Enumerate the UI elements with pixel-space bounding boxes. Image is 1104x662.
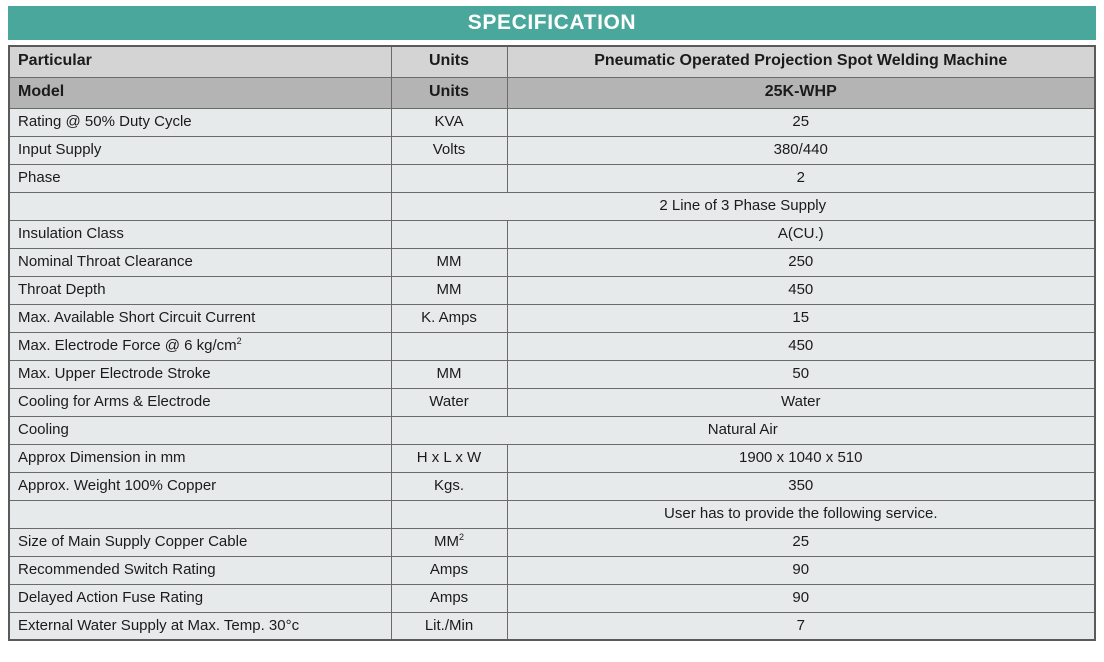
table-row: External Water Supply at Max. Temp. 30°c…: [9, 612, 1095, 640]
cell-units: KVA: [391, 108, 507, 136]
cell-value: 90: [507, 556, 1095, 584]
cell-units: MM: [391, 276, 507, 304]
table-row: Approx Dimension in mmH x L x W1900 x 10…: [9, 444, 1095, 472]
table-row: Phase2: [9, 164, 1095, 192]
cell-units: H x L x W: [391, 444, 507, 472]
cell-units: [391, 164, 507, 192]
cell-value: 380/440: [507, 136, 1095, 164]
model-label: Model: [9, 77, 391, 108]
specification-table: Particular Units Pneumatic Operated Proj…: [8, 45, 1096, 641]
table-row: 2 Line of 3 Phase Supply: [9, 192, 1095, 220]
cell-value: 250: [507, 248, 1095, 276]
cell-value: 25: [507, 528, 1095, 556]
cell-units: Kgs.: [391, 472, 507, 500]
table-row: Approx. Weight 100% CopperKgs.350: [9, 472, 1095, 500]
cell-particular: Nominal Throat Clearance: [9, 248, 391, 276]
cell-value-merged: 2 Line of 3 Phase Supply: [391, 192, 1095, 220]
table-header-row: Particular Units Pneumatic Operated Proj…: [9, 46, 1095, 77]
cell-particular: Input Supply: [9, 136, 391, 164]
table-row: Max. Electrode Force @ 6 kg/cm2450: [9, 332, 1095, 360]
cell-units: Amps: [391, 584, 507, 612]
column-header-particular: Particular: [9, 46, 391, 77]
cell-units: K. Amps: [391, 304, 507, 332]
table-row: Cooling for Arms & ElectrodeWaterWater: [9, 388, 1095, 416]
cell-units: MM: [391, 360, 507, 388]
cell-units: Amps: [391, 556, 507, 584]
cell-particular: Insulation Class: [9, 220, 391, 248]
superscript: 2: [459, 532, 464, 542]
table-row: Recommended Switch RatingAmps90: [9, 556, 1095, 584]
model-units: Units: [391, 77, 507, 108]
cell-units: [391, 500, 507, 528]
superscript: 2: [237, 336, 242, 346]
cell-units: MM2: [391, 528, 507, 556]
table-row: Size of Main Supply Copper CableMM225: [9, 528, 1095, 556]
cell-value: 450: [507, 276, 1095, 304]
column-header-units: Units: [391, 46, 507, 77]
cell-particular: External Water Supply at Max. Temp. 30°c: [9, 612, 391, 640]
cell-value: 50: [507, 360, 1095, 388]
specification-sheet: SPECIFICATION Particular Units Pneumatic…: [0, 0, 1104, 662]
table-row: Nominal Throat ClearanceMM250: [9, 248, 1095, 276]
cell-units: Water: [391, 388, 507, 416]
cell-particular: Phase: [9, 164, 391, 192]
model-row: Model Units 25K-WHP: [9, 77, 1095, 108]
cell-units: [391, 332, 507, 360]
table-row: Max. Available Short Circuit CurrentK. A…: [9, 304, 1095, 332]
table-row: Input SupplyVolts380/440: [9, 136, 1095, 164]
cell-value: 450: [507, 332, 1095, 360]
column-header-machine-name: Pneumatic Operated Projection Spot Weldi…: [507, 46, 1095, 77]
cell-value-merged: Natural Air: [391, 416, 1095, 444]
cell-particular: Cooling: [9, 416, 391, 444]
cell-value: 15: [507, 304, 1095, 332]
cell-units: [391, 220, 507, 248]
cell-value: 350: [507, 472, 1095, 500]
table-row: Throat DepthMM450: [9, 276, 1095, 304]
cell-particular: [9, 500, 391, 528]
cell-particular: Recommended Switch Rating: [9, 556, 391, 584]
cell-particular: Max. Available Short Circuit Current: [9, 304, 391, 332]
cell-particular: Size of Main Supply Copper Cable: [9, 528, 391, 556]
cell-units: Lit./Min: [391, 612, 507, 640]
cell-particular: Throat Depth: [9, 276, 391, 304]
cell-particular: Max. Electrode Force @ 6 kg/cm2: [9, 332, 391, 360]
cell-units: MM: [391, 248, 507, 276]
model-value: 25K-WHP: [507, 77, 1095, 108]
table-row: Delayed Action Fuse RatingAmps90: [9, 584, 1095, 612]
specification-title-bar: SPECIFICATION: [8, 6, 1096, 40]
cell-particular: Cooling for Arms & Electrode: [9, 388, 391, 416]
cell-particular: Max. Upper Electrode Stroke: [9, 360, 391, 388]
cell-value: 7: [507, 612, 1095, 640]
cell-value: A(CU.): [507, 220, 1095, 248]
cell-particular: Approx. Weight 100% Copper: [9, 472, 391, 500]
cell-particular: [9, 192, 391, 220]
cell-units: Volts: [391, 136, 507, 164]
cell-value: Water: [507, 388, 1095, 416]
cell-value: 25: [507, 108, 1095, 136]
table-row: Insulation ClassA(CU.): [9, 220, 1095, 248]
table-row: User has to provide the following servic…: [9, 500, 1095, 528]
table-row: CoolingNatural Air: [9, 416, 1095, 444]
cell-value: User has to provide the following servic…: [507, 500, 1095, 528]
cell-value: 1900 x 1040 x 510: [507, 444, 1095, 472]
specification-table-body: Particular Units Pneumatic Operated Proj…: [9, 46, 1095, 640]
cell-particular: Approx Dimension in mm: [9, 444, 391, 472]
cell-particular: Delayed Action Fuse Rating: [9, 584, 391, 612]
page-title: SPECIFICATION: [468, 11, 636, 35]
cell-particular: Rating @ 50% Duty Cycle: [9, 108, 391, 136]
cell-value: 2: [507, 164, 1095, 192]
cell-value: 90: [507, 584, 1095, 612]
table-row: Max. Upper Electrode StrokeMM50: [9, 360, 1095, 388]
table-row: Rating @ 50% Duty CycleKVA25: [9, 108, 1095, 136]
